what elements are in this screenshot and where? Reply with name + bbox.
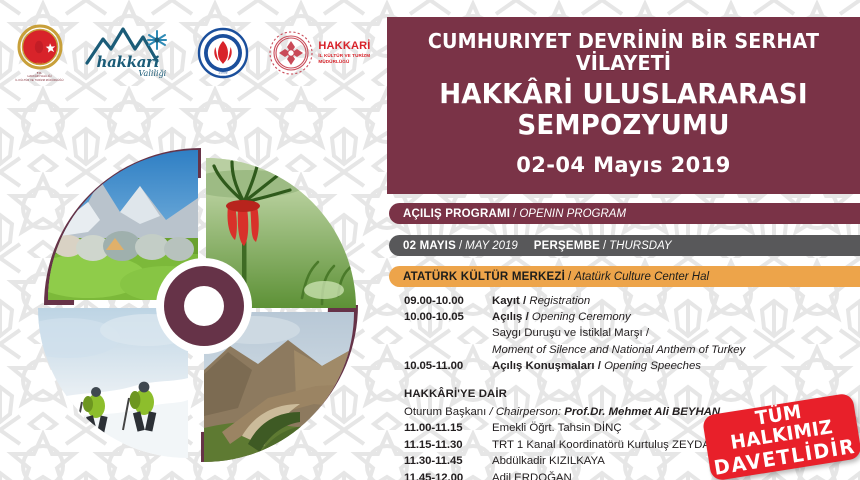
schedule-desc: Açılış / Opening Ceremony [492, 309, 854, 325]
emblem-caption: T.C. HAKKÂRİ VALİLİĞİ İL KÜLTÜR VE TURİZ… [15, 72, 63, 82]
speaker-row: 11.45-12.00 Adil ERDOĞAN [404, 470, 854, 480]
ministry-title: HAKKARİ [318, 41, 370, 52]
schedule-desc-tr: Açılış Konuşmaları [492, 360, 595, 372]
session-title: HAKKÂRİ'YE DAİR [404, 386, 854, 403]
kultur-turizm-logo: HAKKARİ İL KÜLTÜR VE TURİZM MÜDÜRLÜĞÜ [268, 30, 370, 76]
speaker-time: 11.15-11.30 [404, 437, 492, 454]
session-chair-label-en: Chairperson: [496, 406, 561, 418]
schedule-time: 10.00-10.05 [404, 309, 492, 325]
session-chair-name: Prof.Dr. Mehmet Ali BEYHAN [564, 406, 720, 418]
bar2-date-tr: 02 MAYIS [403, 240, 456, 252]
bar3-separator: / [565, 271, 574, 283]
schedule-desc-tr: Kayıt [492, 295, 520, 307]
bar1-label-en: OPENIN PROGRAM [519, 208, 626, 220]
symposium-poster: 2019 T.C. HAKKÂRİ VALİLİĞİ İL KÜLTÜR VE … [0, 0, 860, 480]
schedule-time: 10.05-11.00 [404, 358, 492, 374]
bar-acilis-programi: AÇILIŞ PROGRAMI / OPENIN PROGRAM [389, 203, 860, 224]
ministry-rosette-icon [268, 30, 314, 76]
schedule-desc-en: Opening Ceremony [532, 311, 631, 323]
session-chair-separator: / [489, 406, 492, 418]
hakkari-photo-collage [36, 140, 366, 470]
speaker-name: Adil ERDOĞAN [492, 470, 854, 480]
schedule-row: 10.05-11.00 Açılış Konuşmaları / Opening… [404, 358, 854, 374]
speaker-time: 11.45-12.00 [404, 470, 492, 480]
hakkari-universitesi-logo: 2008 [197, 27, 249, 79]
sponsor-logo-strip: 2019 T.C. HAKKÂRİ VALİLİĞİ İL KÜLTÜR VE … [0, 14, 386, 92]
speaker-time: 11.00-11.15 [404, 420, 492, 437]
collage-center-ring-inner [184, 286, 224, 326]
speaker-time: 11.30-11.45 [404, 453, 492, 470]
bar3-venue-tr: ATATÜRK KÜLTÜR MERKEZİ [403, 271, 565, 283]
opening-schedule: 09.00-10.00 Kayıt / Registration 10.00-1… [404, 293, 854, 374]
hakkari-valiligi-logo: hakkari Valiliği [83, 27, 179, 79]
emblem-caption-line3: İL KÜLTÜR VE TURİZM MÜDÜRLÜĞÜ [15, 79, 63, 82]
schedule-continuation-tr: Saygı Duruşu ve İstiklal Marşı / [404, 325, 854, 341]
bar2-day-tr: PERŞEMBE [534, 240, 600, 252]
ministry-line3: MÜDÜRLÜĞÜ [318, 60, 349, 65]
schedule-separator: / [598, 360, 601, 372]
session-chair-label-tr: Oturum Başkanı [404, 406, 486, 418]
schedule-continuation-en-text: Moment of Silence and National Anthem of… [492, 344, 745, 356]
schedule-desc-tr: Açılış [492, 311, 522, 323]
svg-text:2019: 2019 [36, 62, 44, 66]
schedule-separator: / [523, 295, 526, 307]
schedule-row: 10.00-10.05 Açılış / Opening Ceremony [404, 309, 854, 325]
schedule-time: 09.00-10.00 [404, 293, 492, 309]
page-supertitle: CUMHURIYET DEVRİNİN BİR SERHAT VİLAYETİ [413, 30, 834, 75]
valiligi-subtitle: Valiliği [139, 69, 167, 78]
schedule-desc-en: Registration [529, 295, 590, 307]
poster-header: CUMHURIYET DEVRİNİN BİR SERHAT VİLAYETİ … [387, 17, 860, 194]
bar2-separator: / [456, 240, 465, 252]
schedule-separator: / [526, 311, 529, 323]
university-seal-icon: 2008 [197, 27, 249, 79]
turkish-republic-emblem-icon: 2019 [17, 24, 63, 70]
turkish-republic-emblem-logo: 2019 T.C. HAKKÂRİ VALİLİĞİ İL KÜLTÜR VE … [15, 24, 63, 82]
bar1-label-tr: AÇILIŞ PROGRAMI [403, 208, 510, 220]
schedule-desc-en: Opening Speeches [604, 360, 701, 372]
schedule-desc: Kayıt / Registration [492, 293, 854, 309]
bar-tarih: 02 MAYIS / MAY 2019 PERŞEMBE / THURSDAY [389, 235, 860, 256]
page-dates: 02-04 Mayıs 2019 [516, 153, 730, 177]
bar-mekan: ATATÜRK KÜLTÜR MERKEZİ / Atatürk Culture… [389, 266, 860, 287]
bar2-separator-2: / [600, 240, 609, 252]
bar2-date-en: MAY 2019 [465, 240, 518, 252]
bar2-day-en: THURSDAY [609, 240, 671, 252]
bar3-venue-en: Atatürk Culture Center Hal [574, 271, 709, 283]
bar1-separator: / [510, 208, 519, 220]
page-title: HAKKÂRİ ULUSLARARASI SEMPOZYUMU [408, 79, 838, 141]
schedule-desc: Açılış Konuşmaları / Opening Speeches [492, 358, 854, 374]
schedule-row: 09.00-10.00 Kayıt / Registration [404, 293, 854, 309]
schedule-continuation-en: Moment of Silence and National Anthem of… [404, 342, 854, 358]
university-seal-year: 2008 [219, 70, 229, 75]
